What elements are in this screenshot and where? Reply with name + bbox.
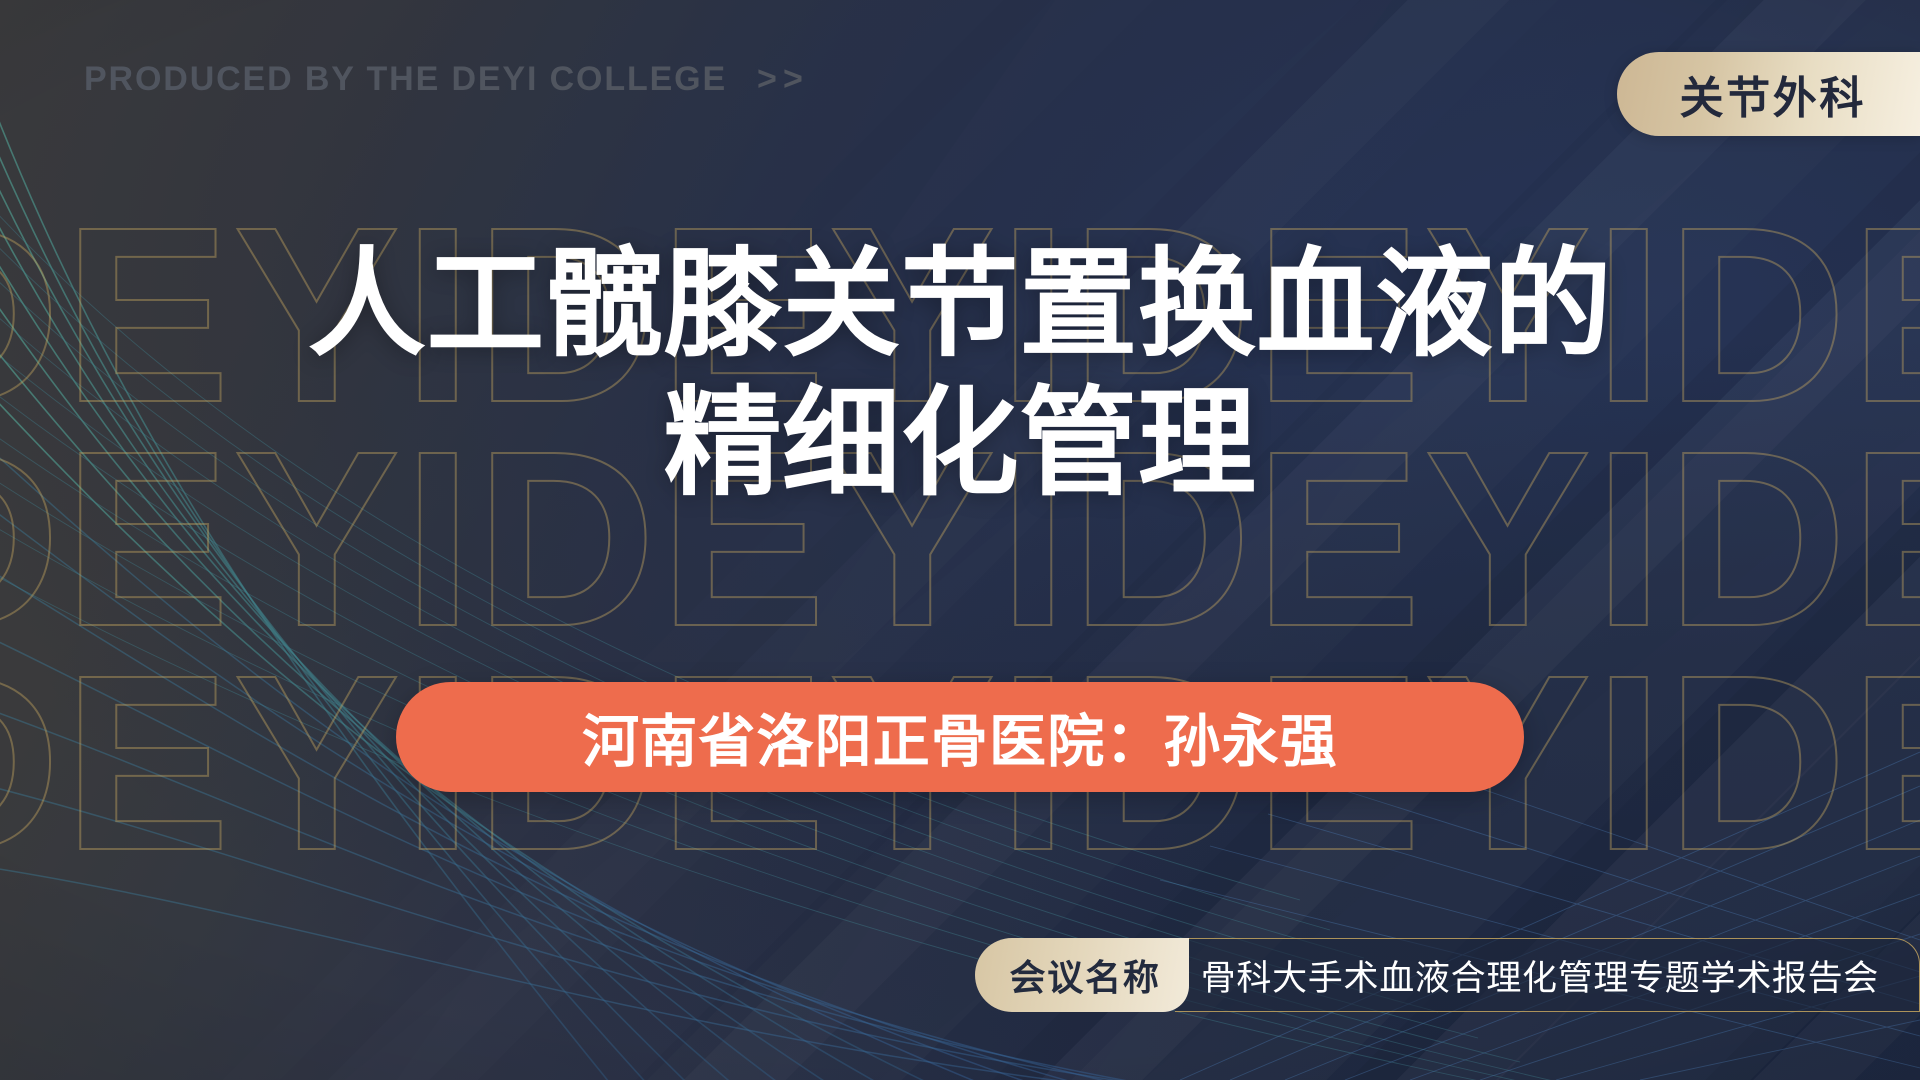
eyebrow-label: PRODUCED BY THE DEYI COLLEGE [84,60,727,99]
presenter-label: 河南省洛阳正骨医院：孙永强 [582,696,1338,778]
eyebrow: PRODUCED BY THE DEYI COLLEGE >> [84,60,809,99]
chevron-double-right-icon: >> [757,60,809,99]
page-title: 人工髋膝关节置换血液的 精细化管理 [0,236,1920,514]
title-line-1: 人工髋膝关节置换血液的 [0,236,1920,375]
presentation-slide: DEYIDEYIDEYIDEYI DEYIDEYIDEYIDEYI DEYIDE… [0,0,1920,1080]
title-line-2: 精细化管理 [0,375,1920,514]
conference-value-chip: 骨科大手术血液合理化管理专题学术报告会 [1175,938,1920,1012]
department-badge: 关节外科 [1617,52,1920,136]
conference-bar: 会议名称 骨科大手术血液合理化管理专题学术报告会 [975,938,1920,1012]
presenter-pill: 河南省洛阳正骨医院：孙永强 [396,682,1524,792]
department-badge-label: 关节外科 [1679,62,1866,126]
conference-label-chip: 会议名称 [975,938,1188,1012]
conference-value: 骨科大手术血液合理化管理专题学术报告会 [1201,950,1879,1001]
conference-label: 会议名称 [1009,949,1160,1001]
